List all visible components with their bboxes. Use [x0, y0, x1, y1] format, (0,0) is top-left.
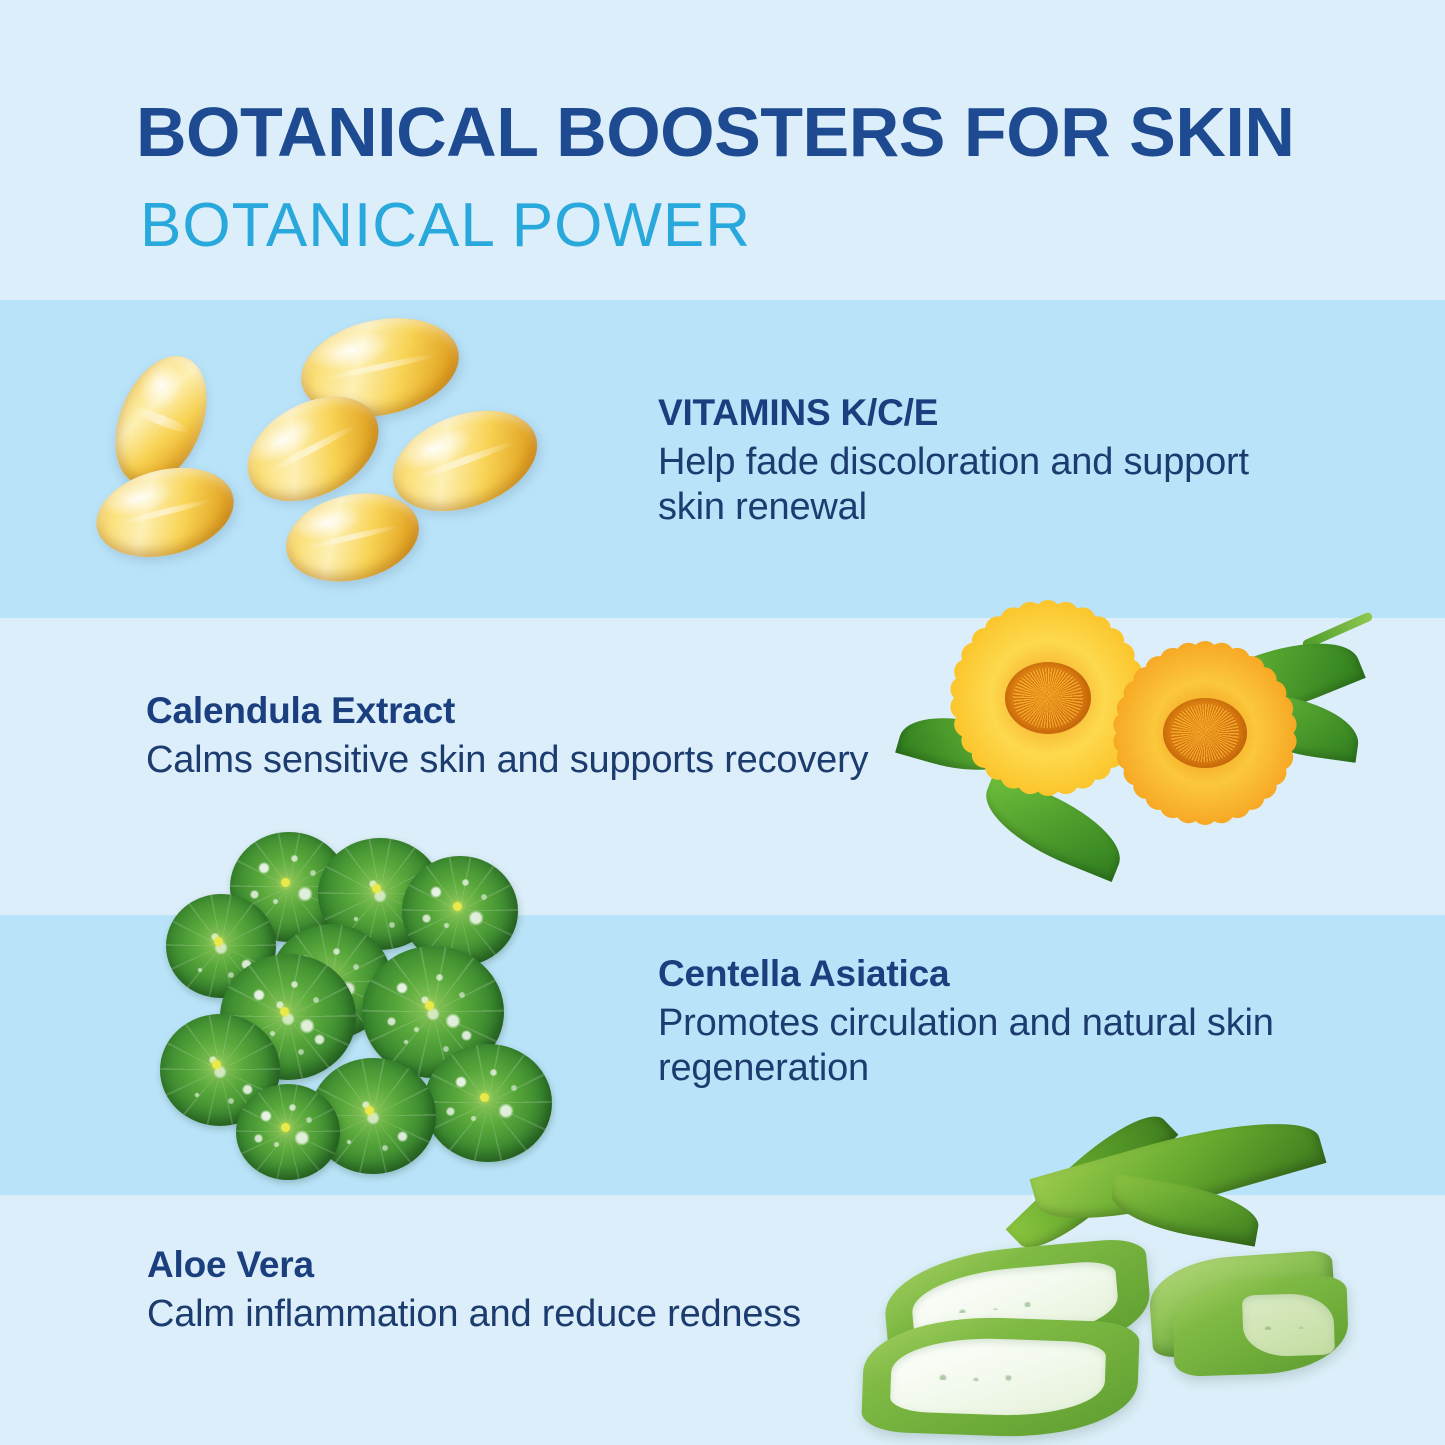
- calendula-flower-icon: [1090, 618, 1320, 848]
- centella-leaf-icon: [424, 1044, 552, 1162]
- centella-leaves-image: [140, 828, 560, 1180]
- centella-leaf-icon: [236, 1084, 340, 1180]
- feature-title: VITAMINS K/C/E: [658, 392, 1318, 434]
- flower-center: [1005, 662, 1091, 734]
- softgel-capsules-image: [95, 315, 590, 595]
- feature-description: Promotes circulation and natural skin re…: [658, 1001, 1278, 1091]
- page-title: BOTANICAL BOOSTERS FOR SKIN: [136, 92, 1294, 172]
- feature-text-calendula: Calendula Extract Calms sensitive skin a…: [146, 690, 936, 783]
- capsule-icon: [87, 454, 243, 570]
- feature-title: Aloe Vera: [147, 1244, 907, 1286]
- feature-description: Calm inflammation and reduce redness: [147, 1292, 907, 1337]
- feature-text-vitamins: VITAMINS K/C/E Help fade discoloration a…: [658, 392, 1318, 530]
- page-subtitle: BOTANICAL POWER: [140, 190, 751, 261]
- infographic-page: BOTANICAL BOOSTERS FOR SKIN BOTANICAL PO…: [0, 0, 1445, 1445]
- feature-title: Calendula Extract: [146, 690, 936, 732]
- feature-description: Help fade discoloration and support skin…: [658, 440, 1318, 530]
- feature-text-centella: Centella Asiatica Promotes circulation a…: [658, 953, 1278, 1091]
- calendula-flowers-image: [900, 558, 1350, 903]
- aloe-vera-image: [855, 1128, 1355, 1445]
- feature-description: Calms sensitive skin and supports recove…: [146, 738, 936, 783]
- flower-center: [1163, 698, 1247, 768]
- feature-title: Centella Asiatica: [658, 953, 1278, 995]
- feature-text-aloe: Aloe Vera Calm inflammation and reduce r…: [147, 1244, 907, 1337]
